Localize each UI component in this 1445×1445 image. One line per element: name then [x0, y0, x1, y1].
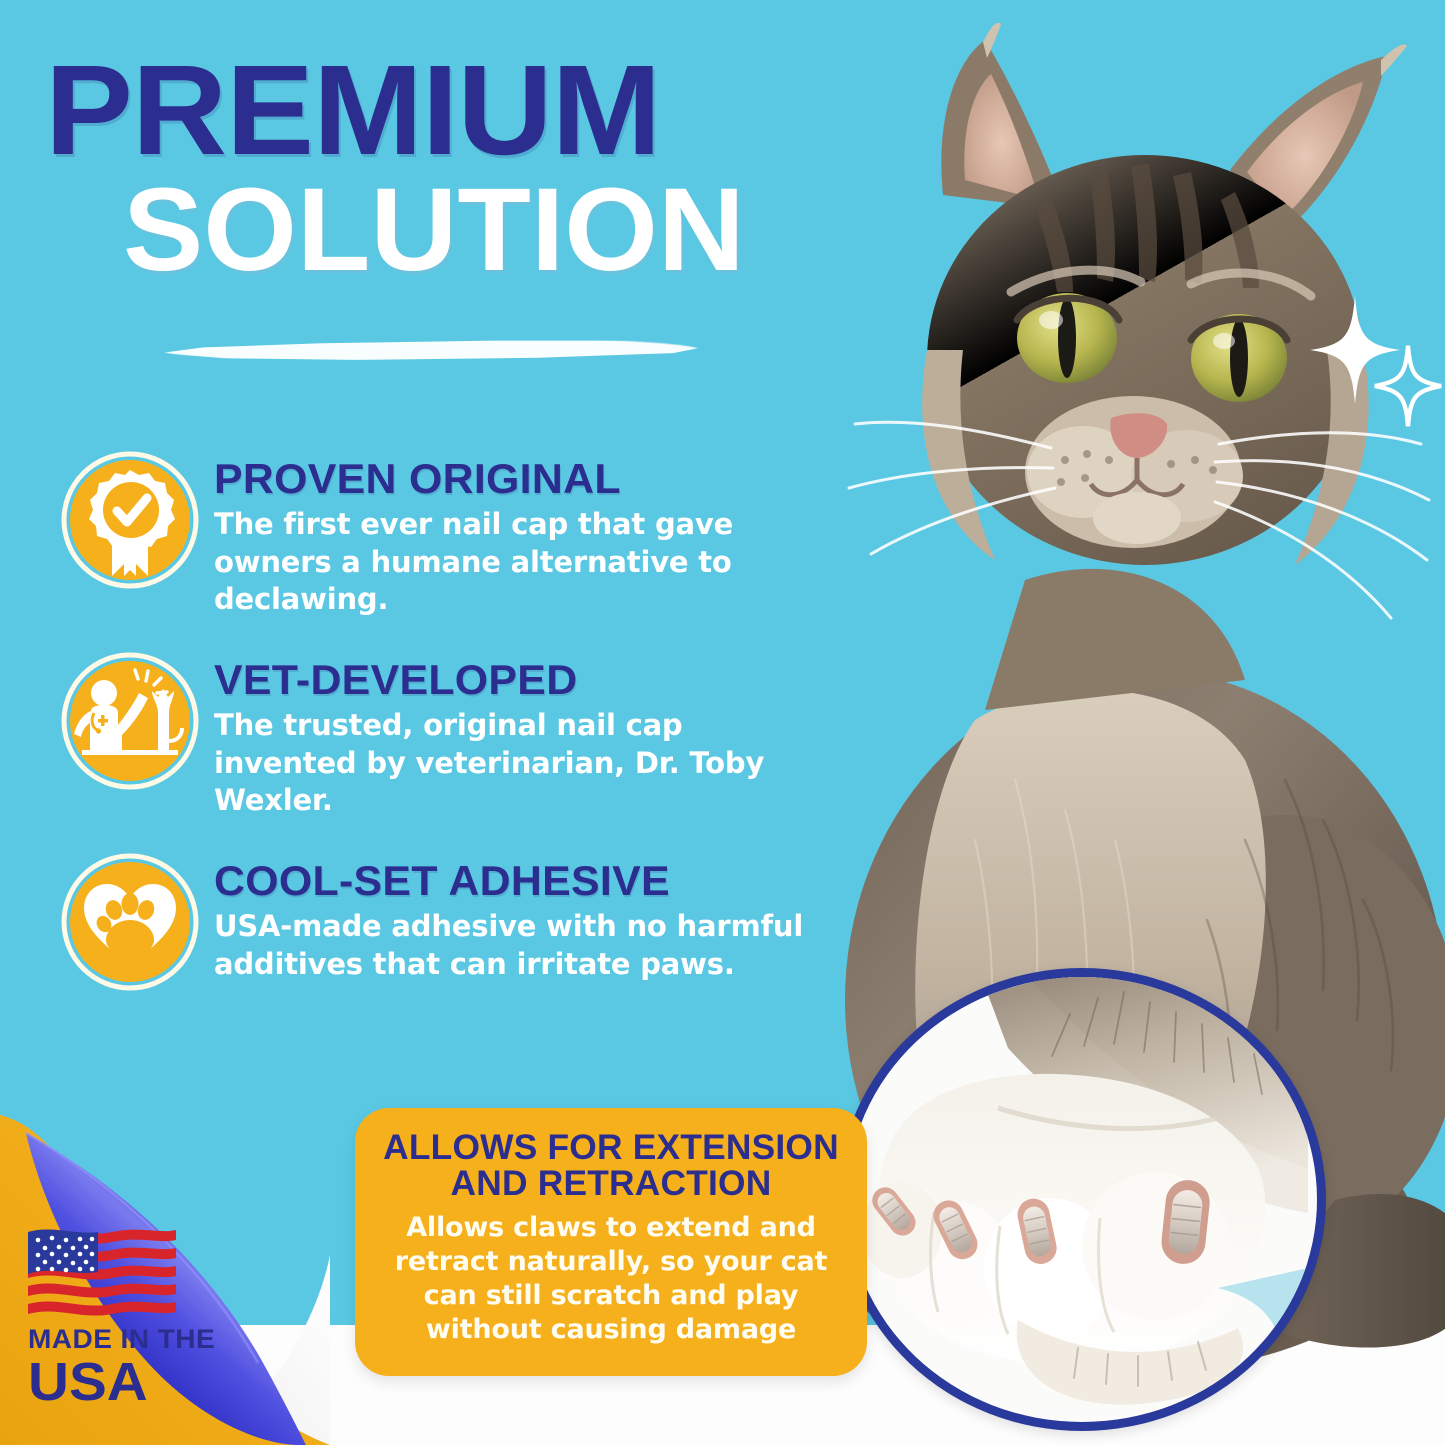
feature-body: The trusted, original nail cap invented …: [214, 707, 830, 820]
vet-high-five-cat-icon: [60, 651, 200, 791]
headline-swoosh-underline: [160, 337, 700, 363]
made-in-the-label: MADE IN THE: [28, 1326, 224, 1353]
award-ribbon-check-icon: [60, 450, 200, 590]
feature-text-block: PROVEN ORIGINAL The first ever nail cap …: [214, 448, 830, 619]
feature-body: USA-made adhesive with no harmful additi…: [214, 908, 830, 983]
feature-text-block: COOL-SET ADHESIVE USA-made adhesive with…: [214, 850, 830, 983]
extension-retraction-callout: ALLOWS FOR EXTENSION AND RETRACTION Allo…: [355, 1108, 867, 1376]
headline-line-premium: PREMIUM: [45, 52, 859, 170]
feature-title: VET-DEVELOPED: [214, 659, 842, 701]
feature-item-cool-set-adhesive: COOL-SET ADHESIVE USA-made adhesive with…: [60, 850, 830, 992]
usa-label: USA: [28, 1355, 225, 1409]
feature-list: PROVEN ORIGINAL The first ever nail cap …: [60, 448, 830, 1022]
feature-item-vet-developed: VET-DEVELOPED The trusted, original nail…: [60, 649, 830, 820]
feature-body: The first ever nail cap that gave owners…: [214, 506, 830, 619]
sparkle-star-outline-icon: [1372, 340, 1444, 432]
headline-line-solution: SOLUTION: [123, 174, 849, 286]
cat-paw-with-nail-caps-inset: [838, 968, 1326, 1431]
callout-body: Allows claws to extend and retract natur…: [377, 1211, 845, 1347]
usa-flag-icon: [26, 1224, 178, 1316]
heart-paw-icon: [60, 852, 200, 992]
feature-item-proven-original: PROVEN ORIGINAL The first ever nail cap …: [60, 448, 830, 619]
product-infographic: PREMIUM SOLUTION: [0, 0, 1445, 1445]
feature-title: PROVEN ORIGINAL: [214, 458, 842, 500]
callout-title-line2: AND RETRACTION: [375, 1166, 848, 1202]
callout-title: ALLOWS FOR EXTENSION AND RETRACTION: [375, 1130, 848, 1203]
callout-title-line1: ALLOWS FOR EXTENSION: [375, 1130, 848, 1166]
feature-text-block: VET-DEVELOPED The trusted, original nail…: [214, 649, 830, 820]
feature-title: COOL-SET ADHESIVE: [214, 860, 842, 902]
made-in-usa-badge: MADE IN THE USA: [26, 1224, 216, 1409]
headline-block: PREMIUM SOLUTION: [45, 52, 835, 286]
